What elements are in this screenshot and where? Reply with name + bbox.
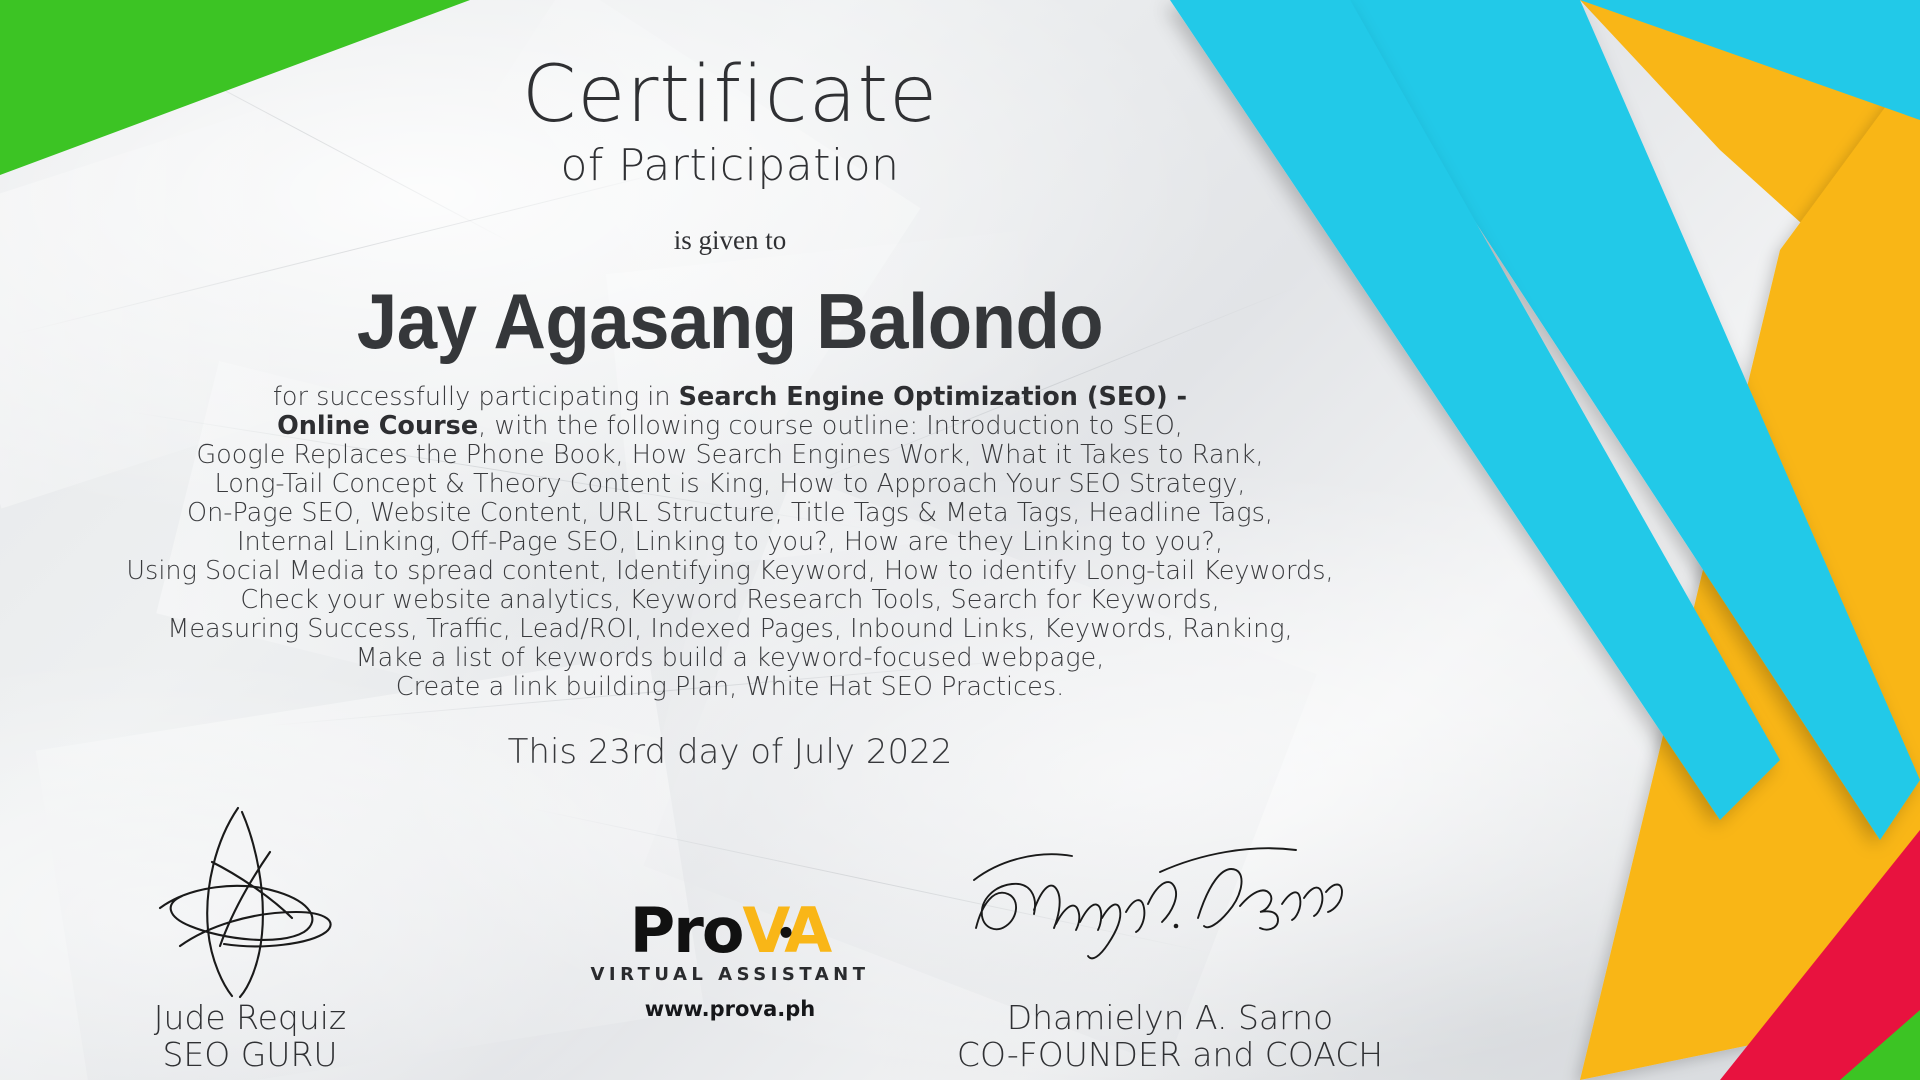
signatory-name: Jude Requiz — [40, 1000, 460, 1037]
logo-text-pro: Pro — [630, 894, 743, 967]
course-description-line: Long-Tail Concept & Theory Content is Ki… — [0, 470, 1460, 499]
course-description-line: Internal Linking, Off-Page SEO, Linking … — [0, 528, 1460, 557]
certificate-canvas: Certificate of Participation is given to… — [0, 0, 1920, 1080]
signature-block-right: Dhamielyn A. Sarno CO-FOUNDER and COACH — [880, 800, 1460, 1074]
signatory-role: SEO GURU — [40, 1037, 460, 1074]
signatory-name: Dhamielyn A. Sarno — [880, 1000, 1460, 1037]
handwritten-signature-icon — [960, 800, 1380, 1000]
logo-wordmark: ProVA — [630, 900, 830, 962]
recipient-name: Jay Agasang Balondo — [51, 276, 1409, 367]
course-description-line: Google Replaces the Phone Book, How Sear… — [0, 441, 1460, 470]
signatory-role: CO-FOUNDER and COACH — [880, 1037, 1460, 1074]
course-description-line: Measuring Success, Traffic, Lead/ROI, In… — [0, 615, 1460, 644]
date-line: This 23rd day of July 2022 — [0, 732, 1460, 772]
course-description-line: Using Social Media to spread content, Id… — [0, 557, 1460, 586]
logo-text-va: VA — [742, 894, 830, 967]
course-description-line: Check your website analytics, Keyword Re… — [0, 586, 1460, 615]
course-description-line: Online Course, with the following course… — [0, 412, 1460, 441]
handwritten-signature-icon — [120, 800, 380, 1000]
course-description: for successfully participating in Search… — [0, 383, 1460, 702]
logo-dot-icon — [781, 926, 792, 937]
given-to-label: is given to — [0, 225, 1460, 256]
signature-block-left: Jude Requiz SEO GURU — [40, 800, 460, 1074]
course-description-line: On-Page SEO, Website Content, URL Struct… — [0, 499, 1460, 528]
course-description-line: Create a link building Plan, White Hat S… — [0, 673, 1460, 702]
certificate-title: Certificate — [0, 58, 1460, 132]
certificate-subtitle: of Participation — [0, 140, 1460, 191]
course-description-line: for successfully participating in Search… — [0, 383, 1460, 412]
course-description-line: Make a list of keywords build a keyword-… — [0, 644, 1460, 673]
